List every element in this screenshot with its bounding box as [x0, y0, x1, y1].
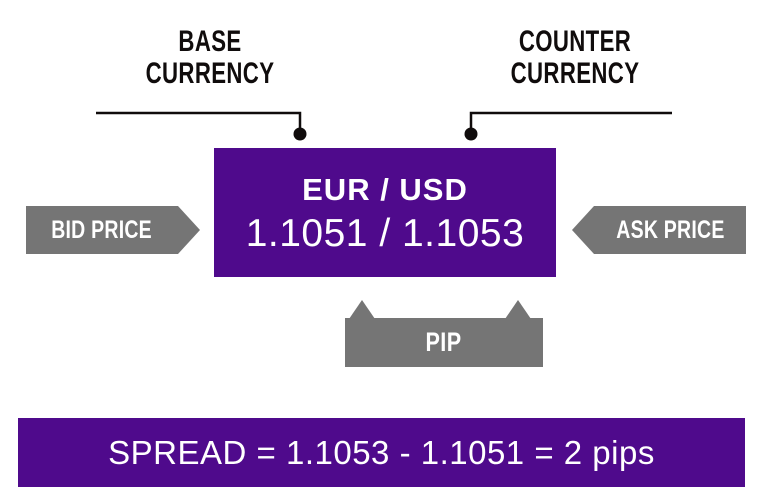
spread-text: SPREAD = 1.1053 - 1.1051 = 2 pips [108, 434, 655, 472]
counter-currency-leader-dot [465, 128, 478, 141]
base-currency-leader-dot [294, 128, 307, 141]
ask-price-tag: ASK PRICE [594, 206, 746, 254]
ask-price-label: ASK PRICE [616, 216, 724, 245]
quote-prices-text: 1.1051 / 1.1053 [246, 212, 525, 256]
pip-arrow-left-icon [349, 300, 375, 319]
quote-box: EUR / USD 1.1051 / 1.1053 [214, 148, 556, 277]
spread-bar: SPREAD = 1.1053 - 1.1051 = 2 pips [18, 418, 745, 487]
pip-label: PIP [426, 327, 462, 358]
counter-currency-leader-line [471, 113, 672, 130]
bid-price-label: BID PRICE [52, 216, 153, 245]
forex-quote-diagram: BASE CURRENCY COUNTER CURRENCY EUR / USD… [0, 0, 768, 500]
bid-price-arrow-icon [178, 206, 200, 254]
ask-price-arrow-icon [572, 206, 594, 254]
base-currency-leader-line [96, 113, 300, 130]
pip-banner-body: PIP [345, 318, 543, 367]
pip-arrow-right-icon [505, 300, 531, 319]
currency-pair-text: EUR / USD [302, 172, 468, 208]
bid-price-tag: BID PRICE [26, 206, 178, 254]
